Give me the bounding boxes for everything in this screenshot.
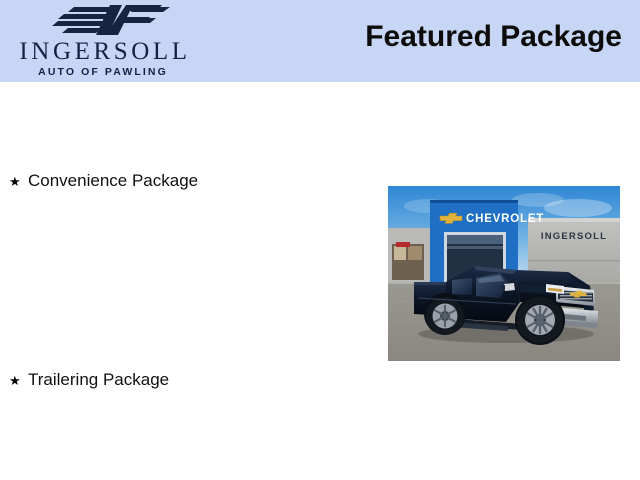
- dealer-logo[interactable]: INGERSOLL AUTO OF PAWLING: [0, 0, 210, 82]
- feature-list-item: ★ Convenience Package: [9, 171, 198, 193]
- svg-text:CHEVROLET: CHEVROLET: [466, 213, 544, 225]
- feature-label: Trailering Package: [28, 370, 169, 390]
- svg-text:INGERSOLL: INGERSOLL: [541, 231, 607, 242]
- star-bullet-icon: ★: [9, 173, 28, 193]
- page-title: Featured Package: [365, 20, 622, 54]
- vehicle-photo[interactable]: INGERSOLL CHEVROLET: [388, 186, 620, 361]
- dealer-logo-wordmark: INGERSOLL: [0, 38, 210, 65]
- dealer-logo-tagline: AUTO OF PAWLING: [0, 66, 206, 78]
- ingersoll-wing-emblem-icon: [44, 2, 172, 36]
- feature-label: Convenience Package: [28, 171, 198, 191]
- star-bullet-icon: ★: [9, 372, 28, 392]
- feature-list-item: ★ Trailering Package: [9, 370, 169, 392]
